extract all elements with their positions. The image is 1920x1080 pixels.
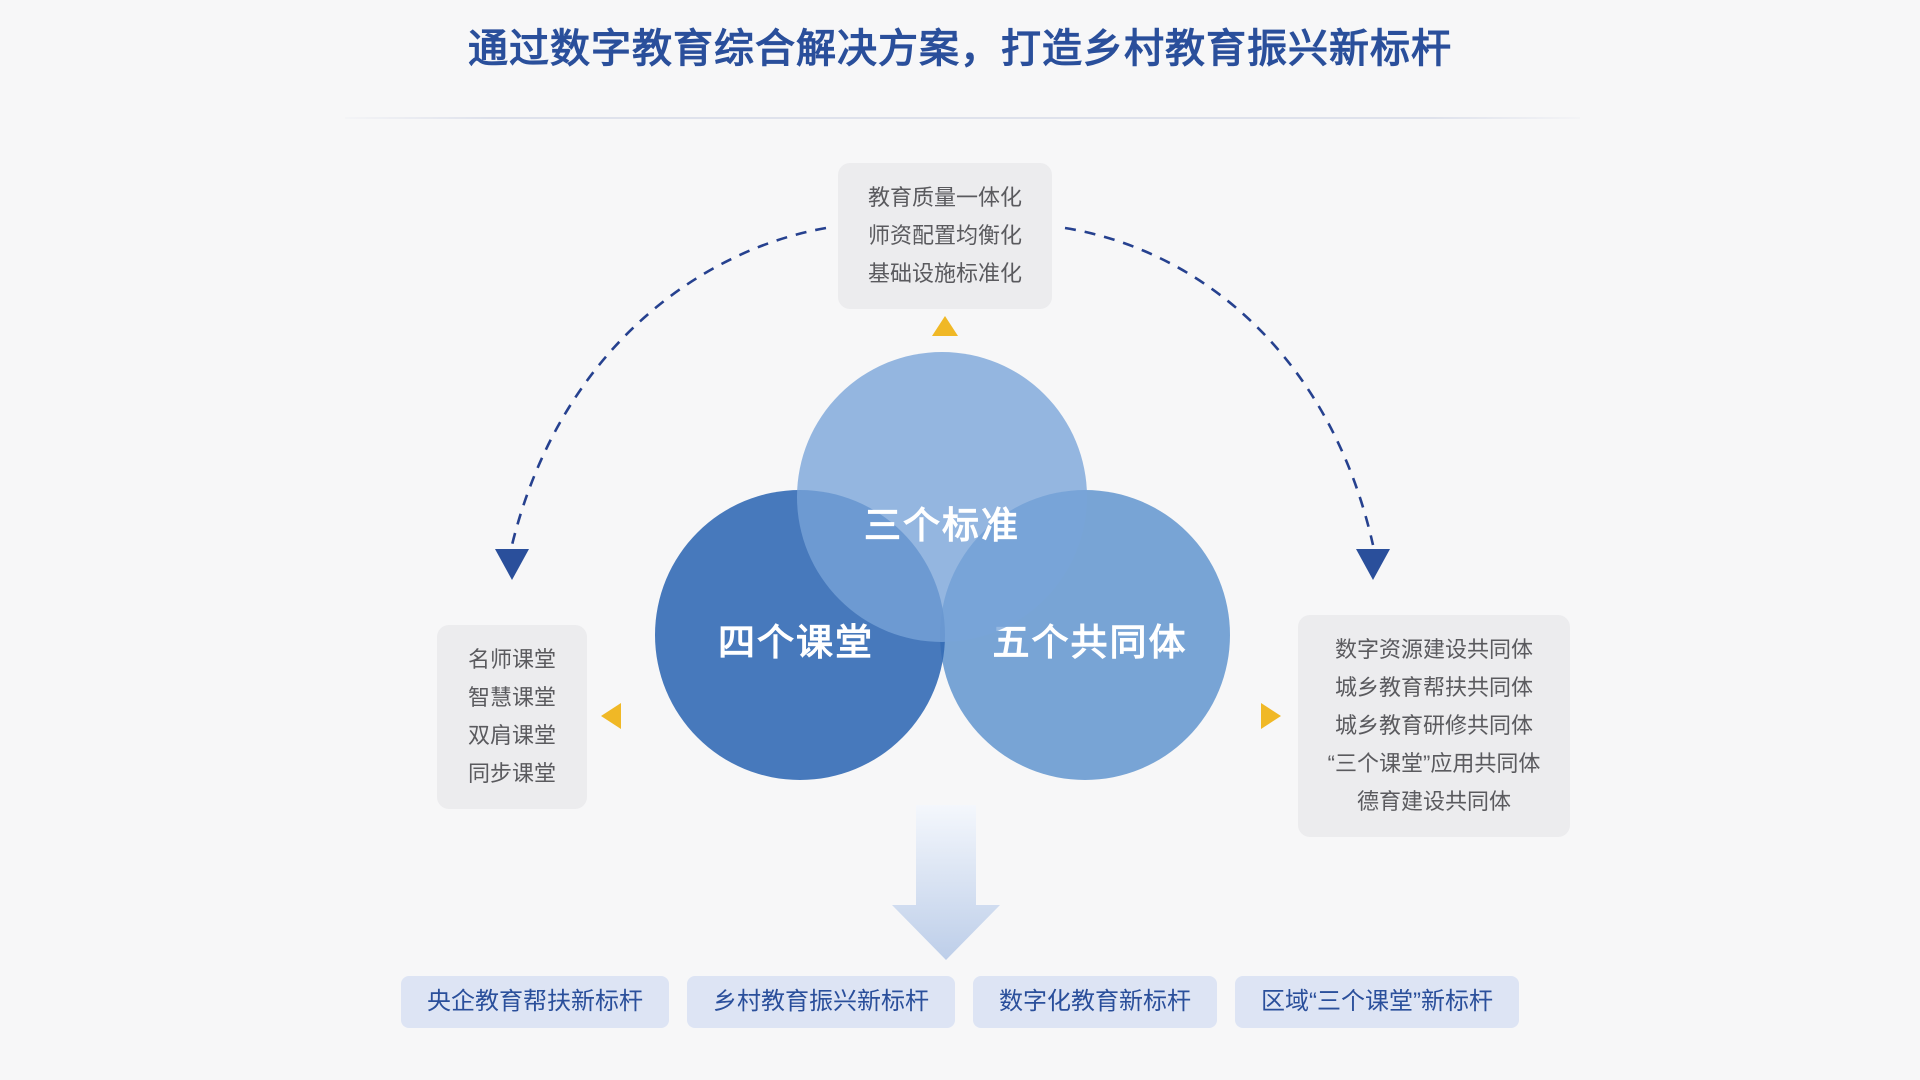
info-box-standards: 教育质量一体化 师资配置均衡化 基础设施标准化	[838, 163, 1052, 309]
title-divider	[345, 117, 1580, 119]
badge-item[interactable]: 区域“三个课堂”新标杆	[1235, 976, 1519, 1028]
triangle-up-icon	[932, 316, 958, 336]
arrow-head-right	[1356, 549, 1390, 580]
venn-label-left: 四个课堂	[718, 612, 874, 666]
info-line: 城乡教育研修共同体	[1318, 707, 1550, 745]
info-line: 名师课堂	[457, 641, 567, 679]
info-box-classrooms: 名师课堂 智慧课堂 双肩课堂 同步课堂	[437, 625, 587, 809]
diagram-canvas: 通过数字教育综合解决方案，打造乡村教育振兴新标杆 四个课堂 五个共同体 三个标准	[0, 0, 1920, 1080]
info-line: 基础设施标准化	[858, 255, 1032, 293]
info-line: 同步课堂	[457, 755, 567, 793]
info-line: 教育质量一体化	[858, 179, 1032, 217]
info-line: 双肩课堂	[457, 717, 567, 755]
badge-item[interactable]: 乡村教育振兴新标杆	[687, 976, 955, 1028]
info-line: 城乡教育帮扶共同体	[1318, 669, 1550, 707]
info-line: 德育建设共同体	[1318, 783, 1550, 821]
arrow-head-left	[495, 549, 529, 580]
info-line: “三个课堂”应用共同体	[1318, 745, 1550, 783]
venn-diagram: 四个课堂 五个共同体 三个标准	[640, 340, 1300, 840]
venn-label-right: 五个共同体	[993, 612, 1188, 666]
venn-label-top: 三个标准	[864, 495, 1020, 549]
badge-item[interactable]: 央企教育帮扶新标杆	[401, 976, 669, 1028]
triangle-left-icon	[601, 703, 621, 729]
page-title: 通过数字教育综合解决方案，打造乡村教育振兴新标杆	[0, 22, 1920, 76]
info-line: 师资配置均衡化	[858, 217, 1032, 255]
info-line: 智慧课堂	[457, 679, 567, 717]
triangle-right-icon	[1261, 703, 1281, 729]
badge-item[interactable]: 数字化教育新标杆	[973, 976, 1217, 1028]
info-box-communities: 数字资源建设共同体 城乡教育帮扶共同体 城乡教育研修共同体 “三个课堂”应用共同…	[1298, 615, 1570, 837]
info-line: 数字资源建设共同体	[1318, 631, 1550, 669]
badge-row: 央企教育帮扶新标杆 乡村教育振兴新标杆 数字化教育新标杆 区域“三个课堂”新标杆	[0, 976, 1920, 1028]
venn-circle-top[interactable]: 三个标准	[797, 352, 1087, 642]
